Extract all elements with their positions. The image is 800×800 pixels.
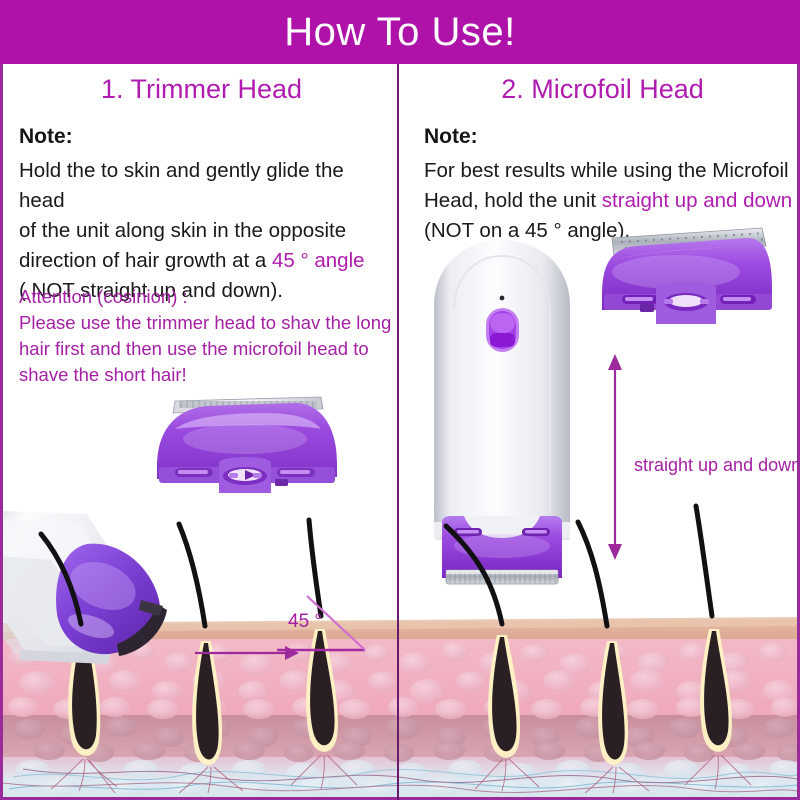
- attention-block-trimmer: Attention (cosinion) : Please use the tr…: [19, 284, 395, 388]
- header-banner: How To Use!: [0, 0, 800, 64]
- how-to-use-infographic: How To Use!: [0, 0, 800, 800]
- body-line-3a: direction of hair growth at a: [19, 249, 272, 272]
- attention-line-3: hair first and then use the microfoil he…: [19, 336, 395, 362]
- trimmer-head-attachment: [145, 389, 345, 499]
- body-line-r2-highlight: straight up and down: [602, 189, 792, 212]
- panel-divider: [397, 64, 399, 800]
- body-line-2: of the unit along skin in the opposite: [19, 219, 346, 242]
- note-label-right: Note:: [424, 126, 478, 147]
- attention-line-1: Attention (cosinion) :: [19, 284, 395, 310]
- attention-line-2: Please use the trimmer head to shav the …: [19, 310, 395, 336]
- body-line-1: Hold the to skin and gently glide the he…: [19, 159, 344, 212]
- angle-45-label: 45 °: [288, 612, 322, 631]
- attention-line-4: shave the short hair!: [19, 362, 395, 388]
- body-line-3-highlight: 45 ° angle: [272, 249, 365, 272]
- full-device-upright: [424, 240, 606, 640]
- body-line-r1: For best results while using the Microfo…: [424, 159, 789, 182]
- device-on-skin-angled: [0, 504, 221, 694]
- microfoil-head-attachment: [596, 216, 776, 336]
- note-label-left: Note:: [19, 126, 73, 147]
- angle-45-diagram: [265, 592, 385, 662]
- content-frame: 1. Trimmer Head Note: Hold the to skin a…: [0, 64, 800, 800]
- page-title: How To Use!: [284, 12, 516, 52]
- body-line-r2a: Head, hold the unit: [424, 189, 602, 212]
- vertical-double-arrow-icon: [602, 354, 628, 560]
- panel-title-microfoil: 2. Microfoil Head: [402, 76, 800, 103]
- panel-title-trimmer: 1. Trimmer Head: [3, 76, 400, 103]
- straight-up-down-label: straight up and down: [634, 456, 800, 474]
